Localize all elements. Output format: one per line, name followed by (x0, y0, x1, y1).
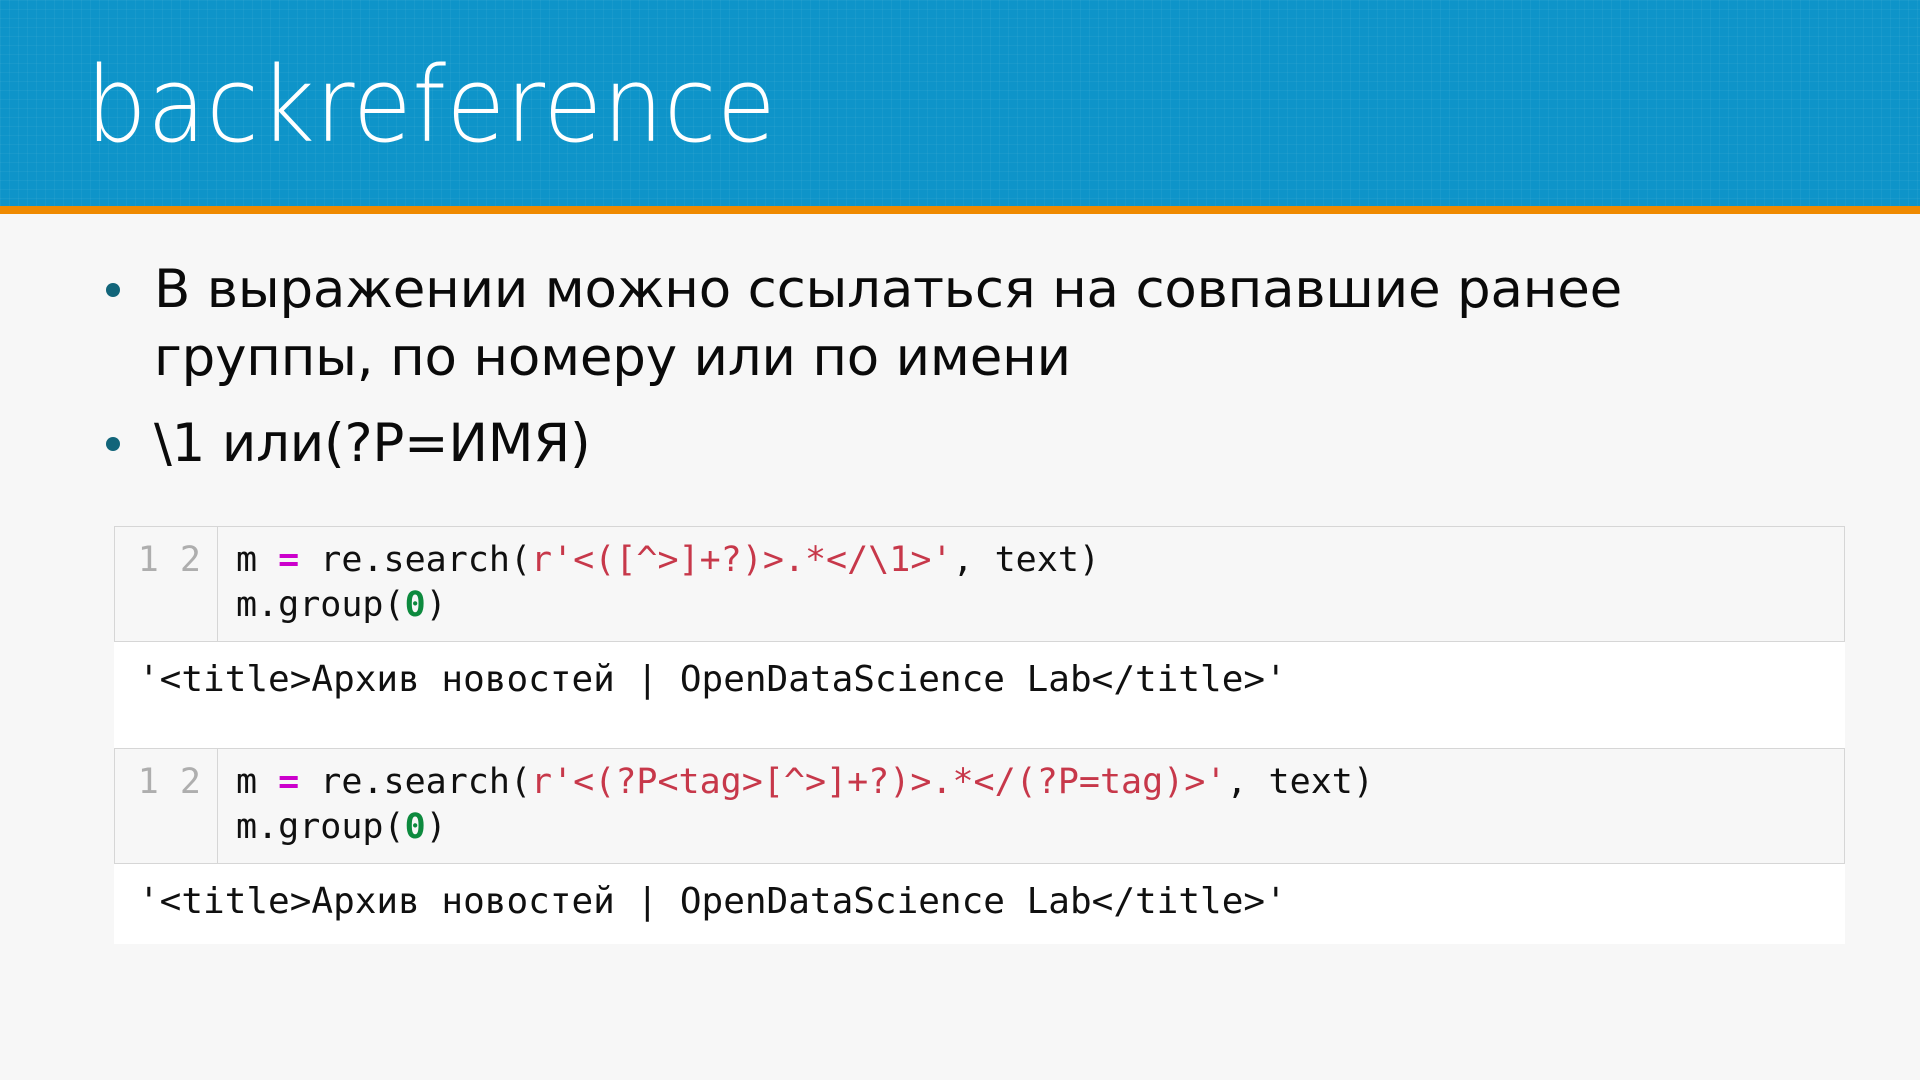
slide-header-band: backreference (0, 0, 1920, 206)
code-token-operator: = (278, 540, 299, 580)
code-token-text: , text) (952, 540, 1100, 580)
code-token-operator: = (278, 762, 299, 802)
list-item: \1 или(?P=ИМЯ) (96, 410, 1856, 478)
bullet-dot-icon (106, 437, 120, 451)
code-cell[interactable]: 1 2 m = re.search(r'<([^>]+?)>.*</\1>', … (114, 526, 1845, 642)
code-token-number: 0 (405, 585, 426, 625)
code-token-string: r'<([^>]+?)>.*</\1>' (531, 540, 952, 580)
code-line-numbers: 1 2 (115, 527, 218, 641)
code-token-text: m.group( (236, 807, 405, 847)
code-token-text: ) (426, 585, 447, 625)
code-source[interactable]: m = re.search(r'<(?P<tag>[^>]+?)>.*</(?P… (218, 749, 1844, 863)
code-token-text: , text) (1226, 762, 1374, 802)
code-token-text: re.search( (299, 762, 531, 802)
code-token-text: re.search( (299, 540, 531, 580)
header-accent-rule (0, 206, 1920, 214)
code-token-text: m.group( (236, 585, 405, 625)
code-output: '<title>Архив новостей | OpenDataScience… (114, 642, 1845, 748)
bullet-text: \1 или(?P=ИМЯ) (154, 413, 590, 474)
code-token-number: 0 (405, 807, 426, 847)
code-examples-stack: 1 2 m = re.search(r'<([^>]+?)>.*</\1>', … (0, 526, 1920, 944)
bullet-list: В выражении можно ссылаться на совпавшие… (96, 256, 1856, 478)
code-token-text: m (236, 762, 278, 802)
code-line-numbers: 1 2 (115, 749, 218, 863)
code-token-text: ) (426, 807, 447, 847)
bullet-dot-icon (106, 283, 120, 297)
code-source[interactable]: m = re.search(r'<([^>]+?)>.*</\1>', text… (218, 527, 1844, 641)
code-cell[interactable]: 1 2 m = re.search(r'<(?P<tag>[^>]+?)>.*<… (114, 748, 1845, 864)
code-token-string: r'<(?P<tag>[^>]+?)>.*</(?P=tag)>' (531, 762, 1226, 802)
page-title: backreference (86, 46, 776, 164)
code-output: '<title>Архив новостей | OpenDataScience… (114, 864, 1845, 944)
bullet-text: В выражении можно ссылаться на совпавшие… (154, 259, 1622, 388)
slide-body: В выражении можно ссылаться на совпавшие… (0, 214, 1920, 1080)
code-token-text: m (236, 540, 278, 580)
list-item: В выражении можно ссылаться на совпавшие… (96, 256, 1856, 392)
